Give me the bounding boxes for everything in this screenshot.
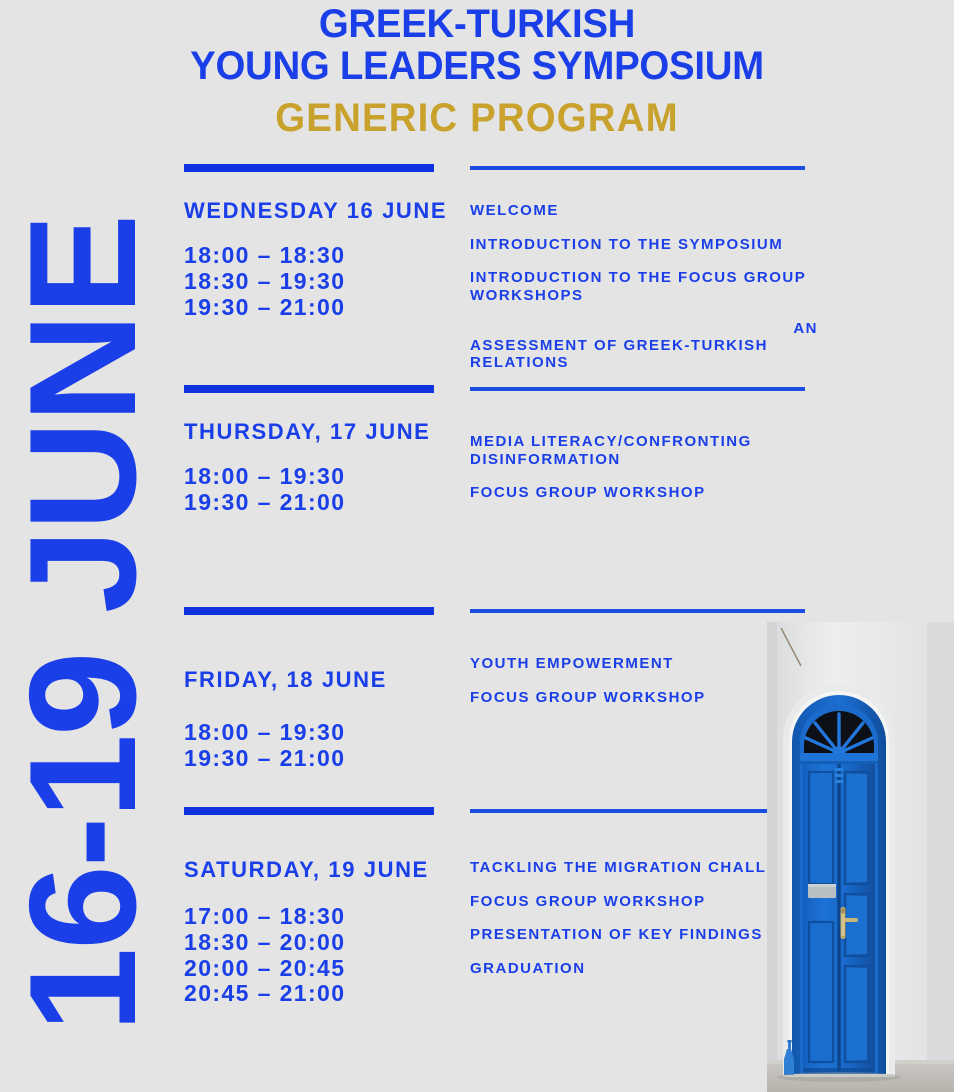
rule-right	[470, 166, 805, 170]
day-block-thursday: THURSDAY, 17 JUNE 18:00 – 19:30 19:30 – …	[184, 383, 884, 397]
door-illustration	[759, 622, 954, 1092]
time-list: 18:00 – 19:30 19:30 – 21:00	[184, 720, 452, 772]
time-row: 20:00 – 20:45	[184, 956, 452, 982]
rule-left	[184, 164, 434, 172]
divider-rules	[184, 162, 884, 176]
rule-left	[184, 607, 434, 615]
title-line-2: YOUNG LEADERS SYMPOSIUM	[19, 46, 935, 88]
session-item: AN ASSESSMENT OF GREEK-TURKISH RELATIONS	[470, 320, 870, 372]
day-left-column: SATURDAY, 19 JUNE 17:00 – 18:30 18:30 – …	[184, 857, 452, 1007]
rule-right	[470, 387, 805, 391]
session-text: ASSESSMENT OF GREEK-TURKISH RELATIONS	[470, 337, 768, 372]
time-row: 19:30 – 21:00	[184, 746, 452, 772]
rule-right	[470, 609, 805, 613]
day-name: SATURDAY, 19 JUNE	[184, 857, 452, 882]
day-left-column: THURSDAY, 17 JUNE 18:00 – 19:30 19:30 – …	[184, 419, 452, 516]
title-line-1: GREEK-TURKISH	[19, 4, 935, 46]
rule-left	[184, 385, 434, 393]
time-row: 17:00 – 18:30	[184, 904, 452, 930]
day-block-friday: FRIDAY, 18 JUNE 18:00 – 19:30 19:30 – 21…	[184, 605, 884, 619]
day-name: THURSDAY, 17 JUNE	[184, 419, 452, 444]
day-name: FRIDAY, 18 JUNE	[184, 667, 452, 692]
time-row: 18:30 – 19:30	[184, 269, 452, 295]
side-date-band: 16-19 JUNE	[0, 150, 150, 1090]
time-list: 18:00 – 19:30 19:30 – 21:00	[184, 464, 452, 516]
greek-blue-door-photo	[759, 622, 954, 1092]
divider-rules	[184, 383, 884, 397]
rule-left	[184, 807, 434, 815]
day-right-column: WELCOME INTRODUCTION TO THE SYMPOSIUM IN…	[470, 202, 870, 372]
poster-subtitle: GENERIC PROGRAM	[19, 97, 935, 139]
side-date-text: 16-19 JUNE	[7, 149, 159, 1092]
session-item: WELCOME	[470, 202, 870, 220]
time-row: 19:30 – 21:00	[184, 490, 452, 516]
session-item: INTRODUCTION TO THE FOCUS GROUP WORKSHOP…	[470, 269, 870, 304]
day-name: WEDNESDAY 16 JUNE	[184, 198, 452, 223]
session-item: FOCUS GROUP WORKSHOP	[470, 484, 870, 502]
day-left-column: WEDNESDAY 16 JUNE 18:00 – 18:30 18:30 – …	[184, 198, 452, 320]
time-row: 18:00 – 19:30	[184, 464, 452, 490]
time-row: 18:30 – 20:00	[184, 930, 452, 956]
poster-header: GREEK-TURKISH YOUNG LEADERS SYMPOSIUM GE…	[0, 0, 954, 139]
session-item: INTRODUCTION TO THE SYMPOSIUM	[470, 236, 870, 254]
divider-rules	[184, 605, 884, 619]
session-lead-word: AN	[470, 320, 870, 338]
time-row: 19:30 – 21:00	[184, 295, 452, 321]
day-right-column: MEDIA LITERACY/CONFRONTING DISINFORMATIO…	[470, 433, 870, 502]
program-poster: GREEK-TURKISH YOUNG LEADERS SYMPOSIUM GE…	[0, 0, 954, 1092]
session-item: MEDIA LITERACY/CONFRONTING DISINFORMATIO…	[470, 433, 870, 468]
day-left-column: FRIDAY, 18 JUNE 18:00 – 19:30 19:30 – 21…	[184, 667, 452, 772]
time-row: 20:45 – 21:00	[184, 981, 452, 1007]
time-list: 18:00 – 18:30 18:30 – 19:30 19:30 – 21:0…	[184, 243, 452, 320]
time-list: 17:00 – 18:30 18:30 – 20:00 20:00 – 20:4…	[184, 904, 452, 1007]
time-row: 18:00 – 18:30	[184, 243, 452, 269]
rule-right	[470, 809, 780, 813]
time-row: 18:00 – 19:30	[184, 720, 452, 746]
day-block-wednesday: WEDNESDAY 16 JUNE 18:00 – 18:30 18:30 – …	[184, 162, 884, 176]
